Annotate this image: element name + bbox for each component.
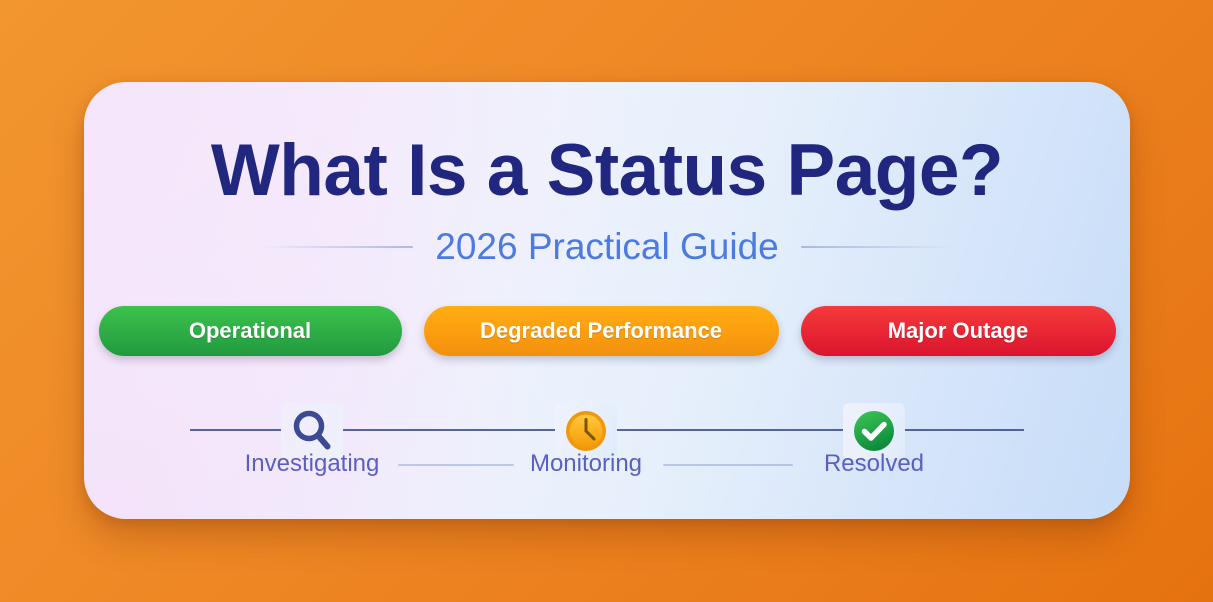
status-badge-major-outage[interactable]: Major Outage (801, 306, 1116, 356)
page-title: What Is a Status Page? (84, 134, 1130, 207)
status-page-card: What Is a Status Page? 2026 Practical Gu… (84, 82, 1130, 519)
timeline-label-rule-2 (663, 464, 793, 466)
status-pill-group: Operational Degraded Performance Major O… (84, 306, 1130, 356)
subtitle-row: 2026 Practical Guide (84, 228, 1130, 265)
status-badge-operational[interactable]: Operational (99, 306, 402, 356)
subtitle-rule-left (261, 246, 413, 248)
timeline-label-rule-1 (398, 464, 514, 466)
clock-icon (562, 407, 610, 455)
page-subtitle: 2026 Practical Guide (435, 228, 778, 265)
status-badge-degraded-performance[interactable]: Degraded Performance (424, 306, 779, 356)
check-circle-icon (850, 407, 898, 455)
subtitle-rule-right (801, 246, 953, 248)
poster-stage: What Is a Status Page? 2026 Practical Gu… (0, 0, 1213, 602)
magnifying-glass-icon (288, 407, 336, 455)
